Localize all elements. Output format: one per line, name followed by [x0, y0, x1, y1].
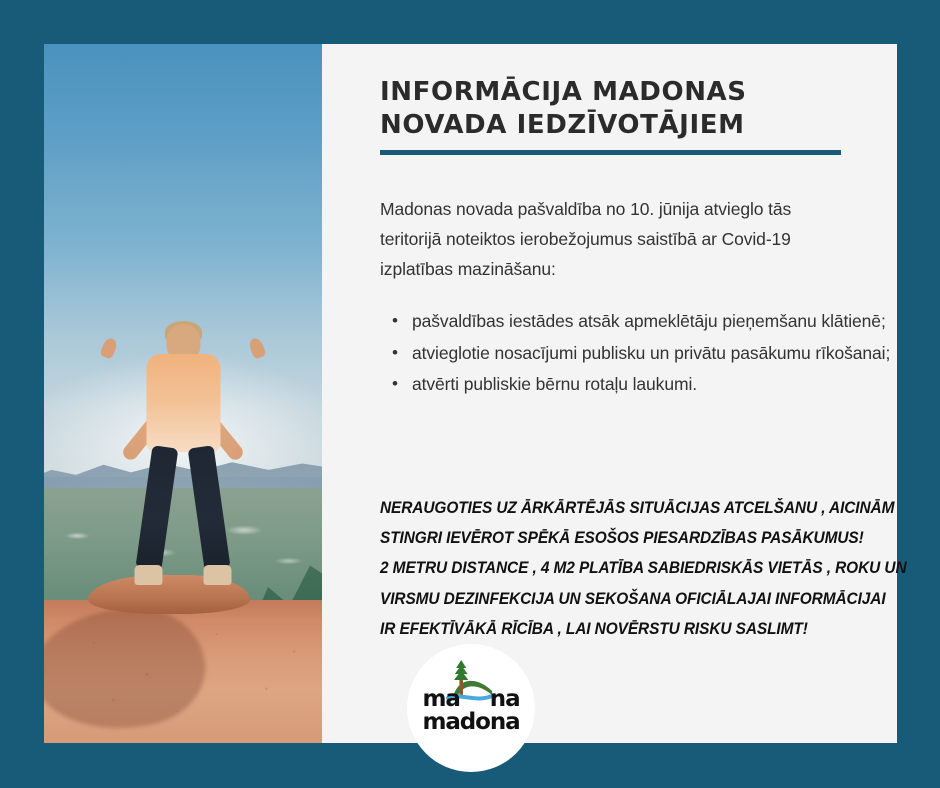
photo-person	[91, 242, 276, 602]
text-column: INFORMĀCIJA MADONAS NOVADA IEDZĪVOTĀJIEM…	[380, 44, 897, 743]
poster-canvas: INFORMĀCIJA MADONAS NOVADA IEDZĪVOTĀJIEM…	[0, 0, 940, 788]
photo-person-left-hand	[99, 336, 119, 359]
madona-wordmark-ma: ma	[423, 686, 460, 712]
emphasis-line: VIRSMU DEZINFEKCIJA UN SEKOŠANA OFICIĀLA…	[380, 584, 826, 614]
photo-person-right-shoe	[204, 565, 232, 585]
page-title: INFORMĀCIJA MADONAS NOVADA IEDZĪVOTĀJIEM	[380, 76, 850, 142]
list-item: pašvaldības iestādes atsāk apmeklētāju p…	[412, 308, 892, 336]
photo-person-right-leg	[188, 445, 231, 569]
list-item: atvieglotie nosacījumi publisku un privā…	[412, 340, 892, 368]
photo-person-right-hand	[247, 336, 267, 359]
emphasis-line: IR EFEKTĪVĀKĀ RĪCĪBA , LAI NOVĒRSTU RISK…	[380, 614, 826, 644]
madona-wordmark-line1: mana	[415, 688, 527, 711]
title-divider	[380, 150, 841, 155]
madona-wordmark-line2: madona	[415, 711, 527, 734]
list-item: atvērti publiskie bērnu rotaļu laukumi.	[412, 371, 892, 399]
content-panel: INFORMĀCIJA MADONAS NOVADA IEDZĪVOTĀJIEM…	[44, 44, 897, 743]
emphasis-notice: NERAUGOTIES UZ ĀRKĀRTĒJĀS SITUĀCIJAS ATC…	[380, 493, 826, 644]
emphasis-line: 2 METRU DISTANCE , 4 M2 PLATĪBA SABIEDRI…	[380, 553, 826, 583]
madona-logo: mana madona	[407, 644, 535, 772]
photo-person-torso	[146, 354, 220, 452]
photo-person-left-shoe	[135, 565, 163, 585]
hero-photo	[44, 44, 322, 743]
photo-person-left-leg	[136, 445, 179, 569]
emphasis-line: NERAUGOTIES UZ ĀRKĀRTĒJĀS SITUĀCIJAS ATC…	[380, 493, 826, 523]
emphasis-line: STINGRI IEVĒROT SPĒKĀ ESOŠOS PIESARDZĪBA…	[380, 523, 826, 553]
madona-logo-badge: mana madona	[407, 644, 535, 772]
madona-wordmark-na: na	[490, 686, 520, 712]
madona-wordmark: mana madona	[415, 688, 527, 735]
intro-paragraph: Madonas novada pašvaldība no 10. jūnija …	[380, 194, 852, 284]
measures-list: pašvaldības iestādes atsāk apmeklētāju p…	[380, 308, 892, 403]
